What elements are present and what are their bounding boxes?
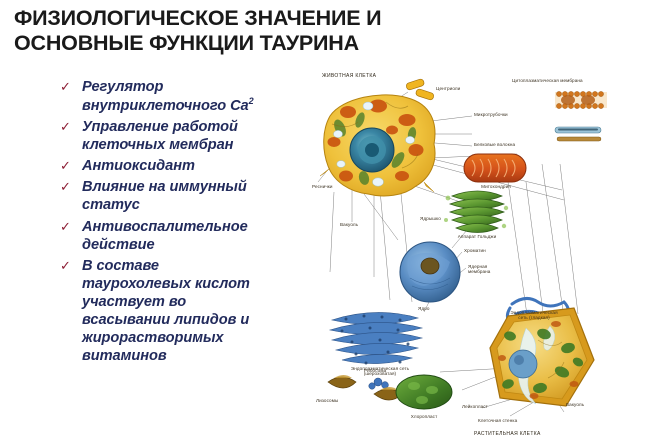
label-vacuole-plant: Вакуоль [566,402,584,407]
page-title: ФИЗИОЛОГИЧЕСКОЕ ЗНАЧЕНИЕ И ОСНОВНЫЕ ФУНК… [14,6,634,57]
list-item-text: В составе таурохолевых кислот участвует … [82,258,250,364]
check-icon: ✓ [60,178,82,195]
microtubule-illustration [555,127,601,133]
list-item: ✓ Антивоспалительное действие [60,218,315,254]
diagram-caption-plant-cell: РАСТИТЕЛЬНАЯ КЛЕТКА [474,432,541,438]
list-item-label: Антивоспалительное действие [82,218,315,254]
label-microtubules: Микротрубочки [474,112,508,117]
label-chromatin: Хроматин [464,248,486,253]
label-golgi-apparatus: Аппарат Гольджи [442,234,512,239]
lysosomes-illustration [328,375,402,400]
list-item-label: Антиоксидант [82,157,315,175]
list-item-label: В составе таурохолевых кислот участвует … [82,257,315,366]
list-item-superscript: 2 [249,96,254,106]
ribosome-illustration [369,378,389,389]
label-leucoplast: Лейкопласт [462,404,488,409]
label-chloroplast: Хлоропласт [394,414,454,419]
label-mitochondrion: Митохондрия [464,184,528,189]
chloroplast-illustration [396,375,452,409]
list-item: ✓ Влияние на иммунный статус [60,178,315,214]
plasma-membrane-illustration [555,91,607,108]
nucleus-illustration [400,242,460,302]
label-nucleolus: Ядрышко [420,216,441,221]
label-smooth-er: Эндоплазматическая сеть (гладкая) [498,310,570,321]
label-vacuole-animal: Вакуоль [340,222,358,227]
check-icon: ✓ [60,257,82,274]
label-nuclear-membrane: Ядерная мембрана [468,264,490,275]
diagram-caption-animal-cell: ЖИВОТНАЯ КЛЕТКА [322,74,376,80]
protein-fiber-illustration [557,137,601,141]
check-icon: ✓ [60,157,82,174]
list-item-text: Влияние на иммунный статус [82,179,247,213]
rough-er-illustration [330,312,422,364]
list-item-label: Управление работой клеточных мембран [82,118,315,154]
label-plasma-membrane: Цитоплазматическая мембрана [512,78,583,83]
list-item: ✓ В составе таурохолевых кислот участвуе… [60,257,315,366]
cell-diagram-svg [312,72,650,442]
list-item-label: Регулятор внутриклеточного Ca2 [82,78,315,115]
label-protein-fibers: Белковые волокна [474,142,515,147]
list-item-text: Управление работой клеточных мембран [82,119,238,153]
list-item-text: Антивоспалительное действие [82,219,248,253]
label-lysosomes: Лизосомы [316,398,338,403]
label-centrioles: Центриоли [436,86,460,91]
list-item: ✓ Управление работой клеточных мембран [60,118,315,154]
check-icon: ✓ [60,218,82,235]
page-title-line-2: ОСНОВНЫЕ ФУНКЦИИ ТАУРИНА [14,31,634,56]
benefits-list: ✓ Регулятор внутриклеточного Ca2 ✓ Управ… [60,78,315,368]
list-item: ✓ Антиоксидант [60,157,315,175]
check-icon: ✓ [60,118,82,135]
slide-canvas: ФИЗИОЛОГИЧЕСКОЕ ЗНАЧЕНИЕ И ОСНОВНЫЕ ФУНК… [0,0,650,442]
centrioles-illustration [406,78,435,100]
list-item-text: Регулятор внутриклеточного Ca [82,79,249,114]
list-item-label: Влияние на иммунный статус [82,178,315,214]
page-title-line-1: ФИЗИОЛОГИЧЕСКОЕ ЗНАЧЕНИЕ И [14,6,634,31]
list-item: ✓ Регулятор внутриклеточного Ca2 [60,78,315,115]
golgi-apparatus-illustration [444,191,508,233]
check-icon: ✓ [60,78,82,95]
plant-cell-illustration [490,308,594,406]
mitochondrion-illustration [464,154,526,182]
animal-cell-illustration [320,95,435,196]
label-cell-wall: Клеточная стенка [478,418,517,423]
cell-diagram: ЖИВОТНАЯ КЛЕТКА Центриоли Цитоплазматиче… [312,72,650,442]
label-nucleus: Ядро [418,306,430,311]
list-item-text: Антиоксидант [82,158,195,174]
label-cilia: Реснички [312,184,333,189]
label-rough-er: Эндоплазматическая сеть (шероховатая) [332,366,428,377]
